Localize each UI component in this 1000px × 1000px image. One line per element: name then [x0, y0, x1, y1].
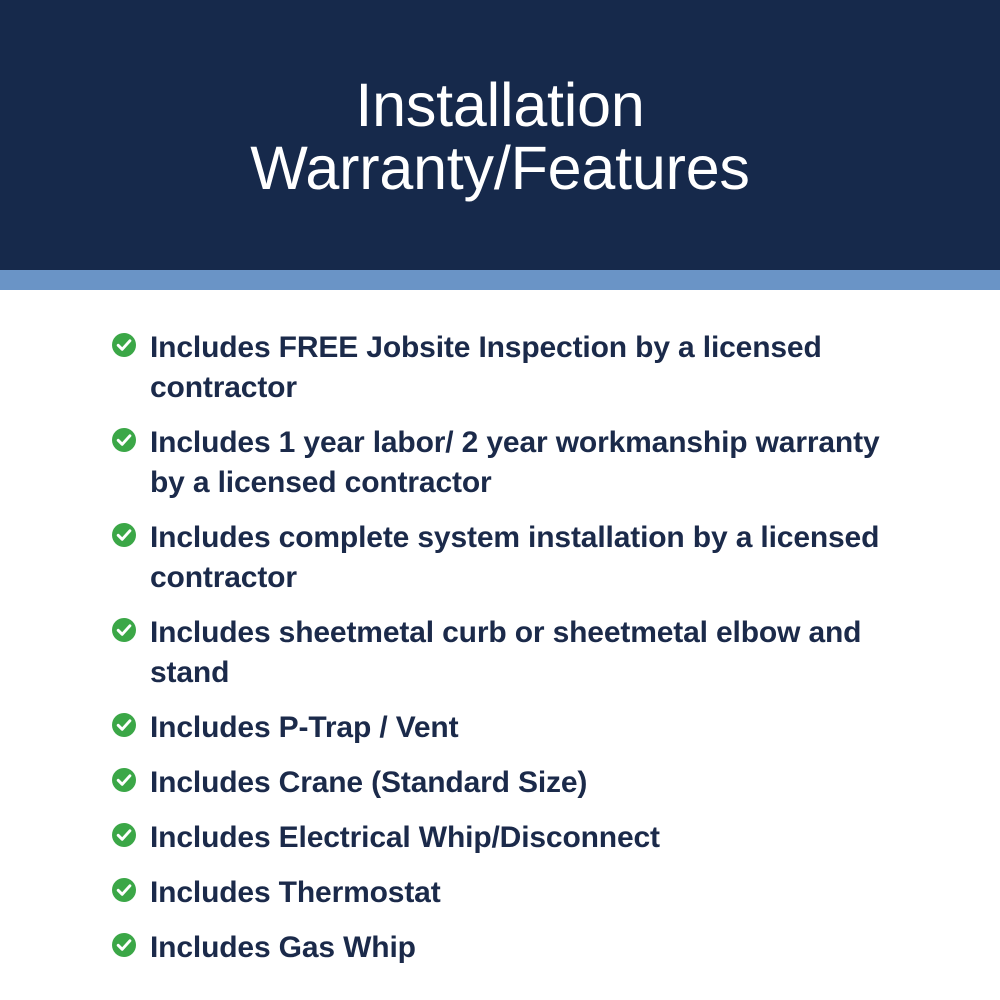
list-item: Includes P-Trap / Vent — [112, 708, 940, 748]
check-circle-icon — [112, 713, 136, 737]
feature-text: Includes 1 year labor/ 2 year workmanshi… — [150, 423, 920, 503]
features-section: Includes FREE Jobsite Inspection by a li… — [0, 290, 1000, 1000]
header-accent-band — [0, 270, 1000, 290]
page-root: Installation Warranty/Features Includes … — [0, 0, 1000, 1000]
check-circle-icon — [112, 333, 136, 357]
page-header: Installation Warranty/Features — [0, 0, 1000, 270]
feature-text: Includes FREE Jobsite Inspection by a li… — [150, 328, 920, 408]
feature-text: Includes sheetmetal curb or sheetmetal e… — [150, 613, 920, 693]
feature-text: Includes P-Trap / Vent — [150, 708, 920, 748]
feature-list: Includes FREE Jobsite Inspection by a li… — [112, 328, 940, 968]
check-circle-icon — [112, 823, 136, 847]
feature-text: Includes Gas Whip — [150, 928, 920, 968]
check-circle-icon — [112, 768, 136, 792]
list-item: Includes 1 year labor/ 2 year workmanshi… — [112, 423, 940, 503]
list-item: Includes FREE Jobsite Inspection by a li… — [112, 328, 940, 408]
feature-text: Includes Electrical Whip/Disconnect — [150, 818, 920, 858]
list-item: Includes complete system installation by… — [112, 518, 940, 598]
list-item: Includes Thermostat — [112, 873, 940, 913]
check-circle-icon — [112, 618, 136, 642]
feature-text: Includes complete system installation by… — [150, 518, 920, 598]
list-item: Includes Electrical Whip/Disconnect — [112, 818, 940, 858]
feature-text: Includes Thermostat — [150, 873, 920, 913]
check-circle-icon — [112, 933, 136, 957]
list-item: Includes Crane (Standard Size) — [112, 763, 940, 803]
list-item: Includes sheetmetal curb or sheetmetal e… — [112, 613, 940, 693]
page-title: Installation Warranty/Features — [210, 74, 789, 200]
list-item: Includes Gas Whip — [112, 928, 940, 968]
check-circle-icon — [112, 878, 136, 902]
feature-text: Includes Crane (Standard Size) — [150, 763, 920, 803]
check-circle-icon — [112, 523, 136, 547]
check-circle-icon — [112, 428, 136, 452]
